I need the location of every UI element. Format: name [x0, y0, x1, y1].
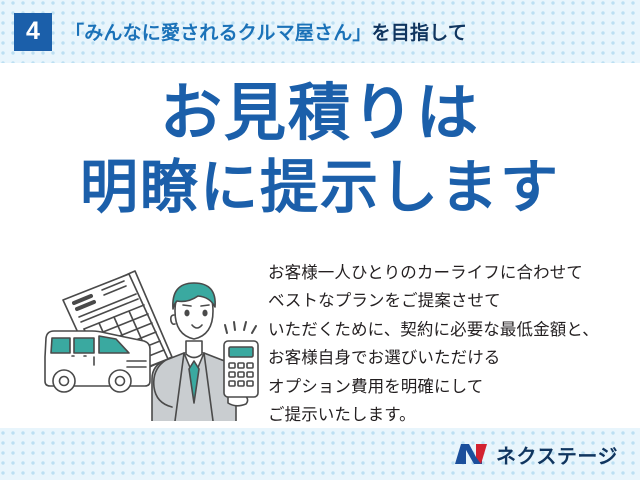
advertisement-page: 4 「みんなに愛されるクルマ屋さん」を目指して お見積りは 明瞭に提示します お…	[0, 0, 640, 480]
sparkle-icon	[225, 322, 256, 333]
body-line: お客様自身でお選びいただける	[268, 344, 630, 372]
header-title-plain: を目指して	[372, 23, 467, 44]
header-banner: 4 「みんなに愛されるクルマ屋さん」を目指して	[0, 0, 640, 63]
headline-line-2: 明瞭に提示します	[0, 159, 640, 217]
body-line: いただくために、契約に必要な最低金額と、	[268, 316, 630, 344]
illustration-salesman-quote-van	[32, 253, 270, 421]
body-paragraph: お客様一人ひとりのカーライフに合わせて ベストなプランをご提案させて いただくた…	[268, 259, 630, 429]
body-line: オプション費用を明確にして	[268, 373, 630, 401]
header-title: 「みんなに愛されるクルマ屋さん」を目指して	[65, 18, 467, 45]
body-line: お客様一人ひとりのカーライフに合わせて	[268, 259, 630, 287]
footer-brand: ネクステージ	[0, 428, 640, 480]
brand-logo: ネクステージ	[454, 440, 618, 469]
headline: お見積りは 明瞭に提示します	[0, 83, 640, 217]
headline-line-1: お見積りは	[0, 83, 640, 145]
body-line: ベストなプランをご提案させて	[268, 287, 630, 315]
nextage-n-logo-icon	[454, 442, 488, 466]
van-illustration	[45, 331, 150, 392]
calculator-icon	[224, 341, 258, 397]
brand-name: ネクステージ	[496, 440, 618, 469]
section-number-badge: 4	[14, 13, 52, 51]
body-line: ご提示いたします。	[268, 401, 630, 429]
content-panel: お見積りは 明瞭に提示します お客様一人ひとりのカーライフに合わせて ベストなプ…	[0, 63, 640, 428]
header-title-quoted: 「みんなに愛されるクルマ屋さん」	[65, 23, 372, 44]
